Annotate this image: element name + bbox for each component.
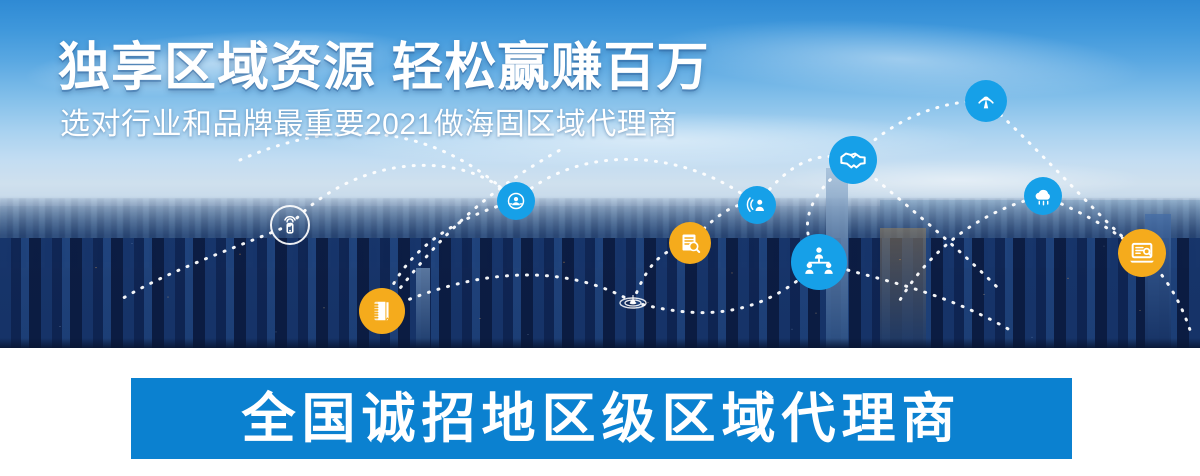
handshake-icon: [839, 146, 867, 174]
node-secure-badge[interactable]: [497, 182, 535, 220]
radar-icon: [618, 287, 648, 317]
subheadline: 选对行业和品牌最重要2021做海固区域代理商: [60, 106, 709, 144]
mobile-wifi-icon: [279, 214, 301, 236]
cta-banner-text: 全国诚招地区级区域代理商: [242, 389, 962, 449]
node-document-search[interactable]: [669, 222, 711, 264]
node-cloud-service[interactable]: [1024, 177, 1062, 215]
node-broadcast-user[interactable]: [738, 186, 776, 224]
node-device-wifi[interactable]: [270, 205, 310, 245]
document-search-icon: [678, 231, 702, 255]
shield-person-icon: [505, 190, 527, 212]
node-signal-antenna[interactable]: [965, 80, 1007, 122]
cloud-icon: [1032, 185, 1055, 208]
headline: 独享区域资源 轻松赢赚百万: [58, 38, 709, 98]
broadcast-user-icon: [746, 194, 768, 216]
promo-banner: 独享区域资源 轻松赢赚百万 选对行业和品牌最重要2021做海固区域代理商 全国诚…: [0, 0, 1200, 476]
laptop-report-icon: [1128, 239, 1156, 267]
node-radar-hub[interactable]: [618, 287, 648, 317]
notebook-icon: [369, 298, 395, 324]
cta-banner[interactable]: 全国诚招地区级区域代理商: [131, 378, 1072, 459]
node-team-network[interactable]: [791, 234, 847, 290]
team-network-icon: [802, 245, 836, 279]
antenna-signal-icon: [974, 89, 998, 113]
node-handshake[interactable]: [829, 136, 877, 184]
node-notebook[interactable]: [359, 288, 405, 334]
headline-block: 独享区域资源 轻松赢赚百万 选对行业和品牌最重要2021做海固区域代理商: [58, 38, 709, 144]
node-laptop-report[interactable]: [1118, 229, 1166, 277]
